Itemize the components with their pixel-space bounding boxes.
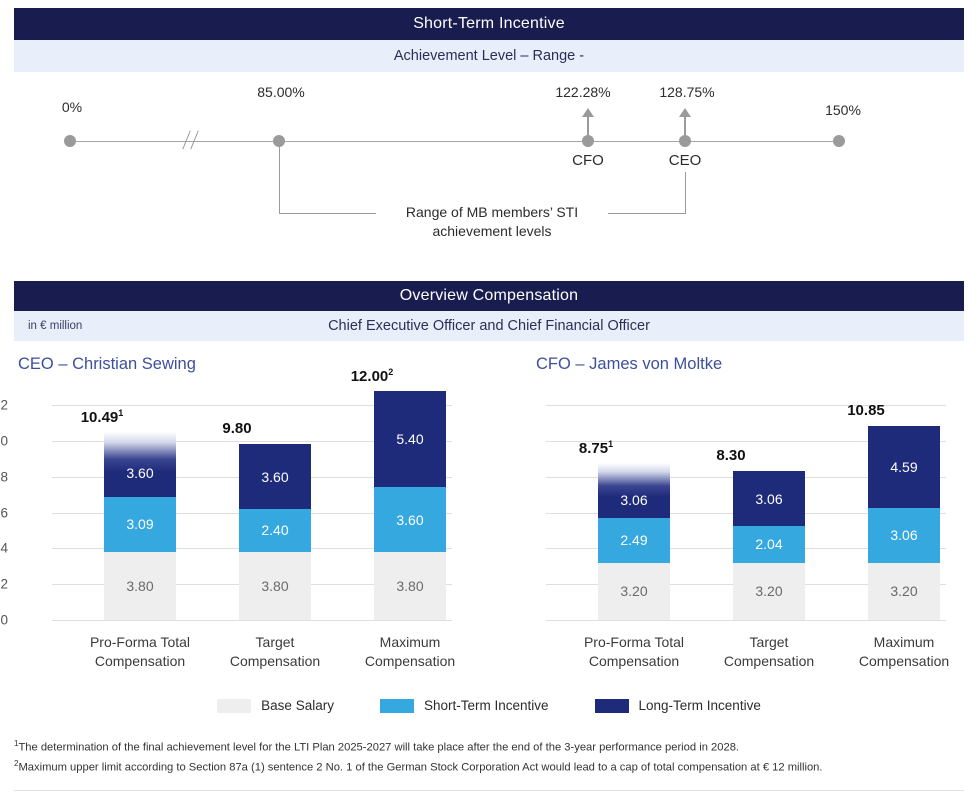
x-axis-category-label-line: Compensation xyxy=(201,652,349,671)
callout-leader-left-vertical xyxy=(279,141,280,214)
x-axis-category-label-line: Maximum xyxy=(830,633,978,652)
bar-total-label: 8.751 xyxy=(560,439,632,457)
callout-leader-right-vertical xyxy=(685,172,686,214)
footnote-1-text: The determination of the final achieveme… xyxy=(18,742,739,754)
bar-segment-value: 3.60 xyxy=(126,465,153,481)
bar-segment-base-salary[interactable]: 3.80 xyxy=(374,552,446,620)
chart-title: CFO – James von Moltke xyxy=(536,355,722,374)
bar-total-value: 8.30 xyxy=(716,447,745,464)
footnote-1: 1The determination of the final achievem… xyxy=(14,736,974,756)
bar-segment-value: 4.59 xyxy=(890,459,917,475)
bar-segment-value: 2.49 xyxy=(620,532,647,548)
legend-item[interactable]: Short-Term Incentive xyxy=(380,698,549,713)
y-axis-tick-label: 10 xyxy=(0,433,8,448)
bar-stack[interactable]: 3.203.064.59 xyxy=(868,426,940,620)
bar-segment-base-salary[interactable]: 3.20 xyxy=(733,563,805,620)
bar-segment-value: 3.80 xyxy=(126,578,153,594)
legend-label: Base Salary xyxy=(261,698,334,713)
bar-total-value: 10.49 xyxy=(81,409,119,426)
x-axis-category-label-line: Compensation xyxy=(66,652,214,671)
bar-segment-value: 5.40 xyxy=(396,431,423,447)
x-axis-category-label-line: Compensation xyxy=(830,652,978,671)
x-axis-category-label-line: Pro-Forma Total xyxy=(66,633,214,652)
sti-section-subtitle: Achievement Level – Range - xyxy=(394,48,584,64)
x-axis-category-label-line: Target xyxy=(201,633,349,652)
bar-segment-long-term-incentive[interactable]: 3.60 xyxy=(239,444,311,509)
y-axis-tick-label: 2 xyxy=(0,577,8,592)
bar-segment-value: 3.20 xyxy=(620,583,647,599)
legend-swatch-icon xyxy=(595,699,629,713)
bar-segment-base-salary[interactable]: 3.80 xyxy=(239,552,311,620)
sti-section-title: Short-Term Incentive xyxy=(413,15,565,33)
scale-label-ceo-role: CEO xyxy=(669,152,702,169)
x-axis-category-label: TargetCompensation xyxy=(201,633,349,671)
bar-segment-short-term-incentive[interactable]: 3.06 xyxy=(868,508,940,563)
bar-segment-short-term-incentive[interactable]: 3.09 xyxy=(104,497,176,552)
overview-section-subheader: in € million Chief Executive Officer and… xyxy=(14,311,964,341)
legend-item[interactable]: Base Salary xyxy=(217,698,334,713)
achievement-level-scale: 0% 85.00% 122.28% 128.75% 150% CFO CEO R… xyxy=(0,86,978,256)
scale-label-ceo-value: 128.75% xyxy=(659,84,714,100)
x-axis-category-label: TargetCompensation xyxy=(695,633,843,671)
bar-segment-base-salary[interactable]: 3.20 xyxy=(598,563,670,620)
compensation-report-page: Short-Term Incentive Achievement Level –… xyxy=(0,0,978,802)
x-axis-category-label: MaximumCompensation xyxy=(830,633,978,671)
bar-stack[interactable]: 3.802.403.60 xyxy=(239,444,311,620)
bar-segment-value: 3.09 xyxy=(126,516,153,532)
sti-section-header: Short-Term Incentive xyxy=(14,8,964,40)
footnote-2-text: Maximum upper limit according to Section… xyxy=(18,761,822,773)
bar-stack[interactable]: 3.202.493.06 xyxy=(598,463,670,620)
bar-total-footnote-marker: 1 xyxy=(118,408,123,418)
bar-segment-value: 3.80 xyxy=(261,578,288,594)
plot-area: 3.202.493.063.202.043.063.203.064.59 xyxy=(546,405,946,620)
footnotes: 1The determination of the final achievem… xyxy=(14,736,974,775)
bar-segment-value: 3.06 xyxy=(755,491,782,507)
x-axis-category-label-line: Compensation xyxy=(560,652,708,671)
bar-segment-long-term-incentive[interactable]: 3.06 xyxy=(733,471,805,526)
overview-section-title: Overview Compensation xyxy=(400,287,579,305)
x-axis-category-label-line: Maximum xyxy=(336,633,484,652)
bar-total-value: 10.85 xyxy=(847,402,885,419)
scale-label-cfo-value: 122.28% xyxy=(555,84,610,100)
chart-title: CEO – Christian Sewing xyxy=(18,355,196,374)
bar-stack[interactable]: 3.202.043.06 xyxy=(733,471,805,620)
range-callout-line-2: achievement levels xyxy=(406,222,578,241)
bar-segment-long-term-incentive[interactable]: 4.59 xyxy=(868,426,940,508)
scale-point-end xyxy=(833,135,845,147)
bar-segment-value: 3.60 xyxy=(261,469,288,485)
bar-segment-short-term-incentive[interactable]: 2.40 xyxy=(239,509,311,552)
legend-item[interactable]: Long-Term Incentive xyxy=(595,698,761,713)
y-axis-tick-label: 4 xyxy=(0,541,8,556)
bottom-divider xyxy=(14,790,964,791)
cfo-marker-stem xyxy=(587,114,589,138)
gridline xyxy=(546,620,946,621)
bar-segment-long-term-incentive[interactable]: 3.06 xyxy=(598,463,670,518)
currency-unit-label: in € million xyxy=(28,320,82,332)
bar-total-value: 9.80 xyxy=(222,420,251,437)
bar-total-value: 12.00 xyxy=(351,368,389,385)
bar-stack[interactable]: 3.803.093.60 xyxy=(104,432,176,620)
x-axis-category-label-line: Compensation xyxy=(695,652,843,671)
bar-total-label: 8.30 xyxy=(695,447,767,464)
legend-label: Short-Term Incentive xyxy=(424,698,549,713)
axis-break-icon xyxy=(182,130,202,152)
y-axis-tick-label: 6 xyxy=(0,505,8,520)
scale-label-start: 0% xyxy=(62,99,82,115)
y-axis-tick-label: 8 xyxy=(0,469,8,484)
scale-point-start xyxy=(64,135,76,147)
bar-segment-value: 3.20 xyxy=(890,583,917,599)
bar-total-label: 12.002 xyxy=(336,367,408,385)
bar-total-label: 9.80 xyxy=(201,420,273,437)
x-axis-category-label: Pro-Forma TotalCompensation xyxy=(66,633,214,671)
bar-segment-short-term-incentive[interactable]: 3.60 xyxy=(374,487,446,552)
cfo-compensation-chart: CFO – James von Moltke3.202.493.063.202.… xyxy=(508,355,978,675)
overview-section-subtitle: Chief Executive Officer and Chief Financ… xyxy=(328,318,650,334)
scale-label-threshold: 85.00% xyxy=(257,84,304,100)
legend-label: Long-Term Incentive xyxy=(639,698,761,713)
bar-segment-value: 3.20 xyxy=(755,583,782,599)
overview-section-header: Overview Compensation xyxy=(14,281,964,311)
bar-segment-value: 2.04 xyxy=(755,536,782,552)
ceo-compensation-chart: CEO – Christian Sewing3.803.093.603.802.… xyxy=(14,355,484,675)
y-axis-tick-label: 12 xyxy=(0,398,8,413)
x-axis-category-label-line: Pro-Forma Total xyxy=(560,633,708,652)
x-axis-category-label-line: Target xyxy=(695,633,843,652)
y-axis-tick-label: 0 xyxy=(0,613,8,628)
ceo-marker-stem xyxy=(684,114,686,138)
chart-legend: Base SalaryShort-Term IncentiveLong-Term… xyxy=(0,698,978,713)
scale-label-end: 150% xyxy=(825,102,861,118)
footnote-2: 2Maximum upper limit according to Sectio… xyxy=(14,756,974,776)
bar-segment-value: 2.40 xyxy=(261,522,288,538)
scale-label-cfo-role: CFO xyxy=(572,152,604,169)
sti-section-subheader: Achievement Level – Range - xyxy=(14,40,964,72)
bar-segment-value: 3.06 xyxy=(890,527,917,543)
bar-segment-short-term-incentive[interactable]: 2.04 xyxy=(733,526,805,563)
x-axis-category-label-line: Compensation xyxy=(336,652,484,671)
bar-segment-short-term-incentive[interactable]: 2.49 xyxy=(598,518,670,563)
cfo-marker-arrow-icon xyxy=(582,108,594,117)
bar-stack[interactable]: 3.803.605.40 xyxy=(374,391,446,620)
bar-total-label: 10.85 xyxy=(830,402,902,419)
callout-leader-right-horizontal xyxy=(608,213,686,214)
bar-total-footnote-marker: 2 xyxy=(388,367,393,377)
bar-segment-long-term-incentive[interactable]: 3.60 xyxy=(104,432,176,497)
bar-total-value: 8.75 xyxy=(579,440,608,457)
bar-segment-value: 3.60 xyxy=(396,512,423,528)
bar-segment-value: 3.80 xyxy=(396,578,423,594)
ceo-marker-arrow-icon xyxy=(679,108,691,117)
bar-segment-value: 3.06 xyxy=(620,492,647,508)
x-axis-category-label: Pro-Forma TotalCompensation xyxy=(560,633,708,671)
bar-segment-base-salary[interactable]: 3.20 xyxy=(868,563,940,620)
x-axis-category-label: MaximumCompensation xyxy=(336,633,484,671)
callout-leader-left-horizontal xyxy=(279,213,376,214)
legend-swatch-icon xyxy=(217,699,251,713)
bar-total-footnote-marker: 1 xyxy=(608,439,613,449)
range-callout-line-1: Range of MB members’ STI xyxy=(406,203,578,222)
legend-swatch-icon xyxy=(380,699,414,713)
bar-segment-base-salary[interactable]: 3.80 xyxy=(104,552,176,620)
bar-total-label: 10.491 xyxy=(66,408,138,426)
gridline xyxy=(52,620,452,621)
range-callout: Range of MB members’ STI achievement lev… xyxy=(406,203,578,241)
bar-segment-long-term-incentive[interactable]: 5.40 xyxy=(374,391,446,488)
